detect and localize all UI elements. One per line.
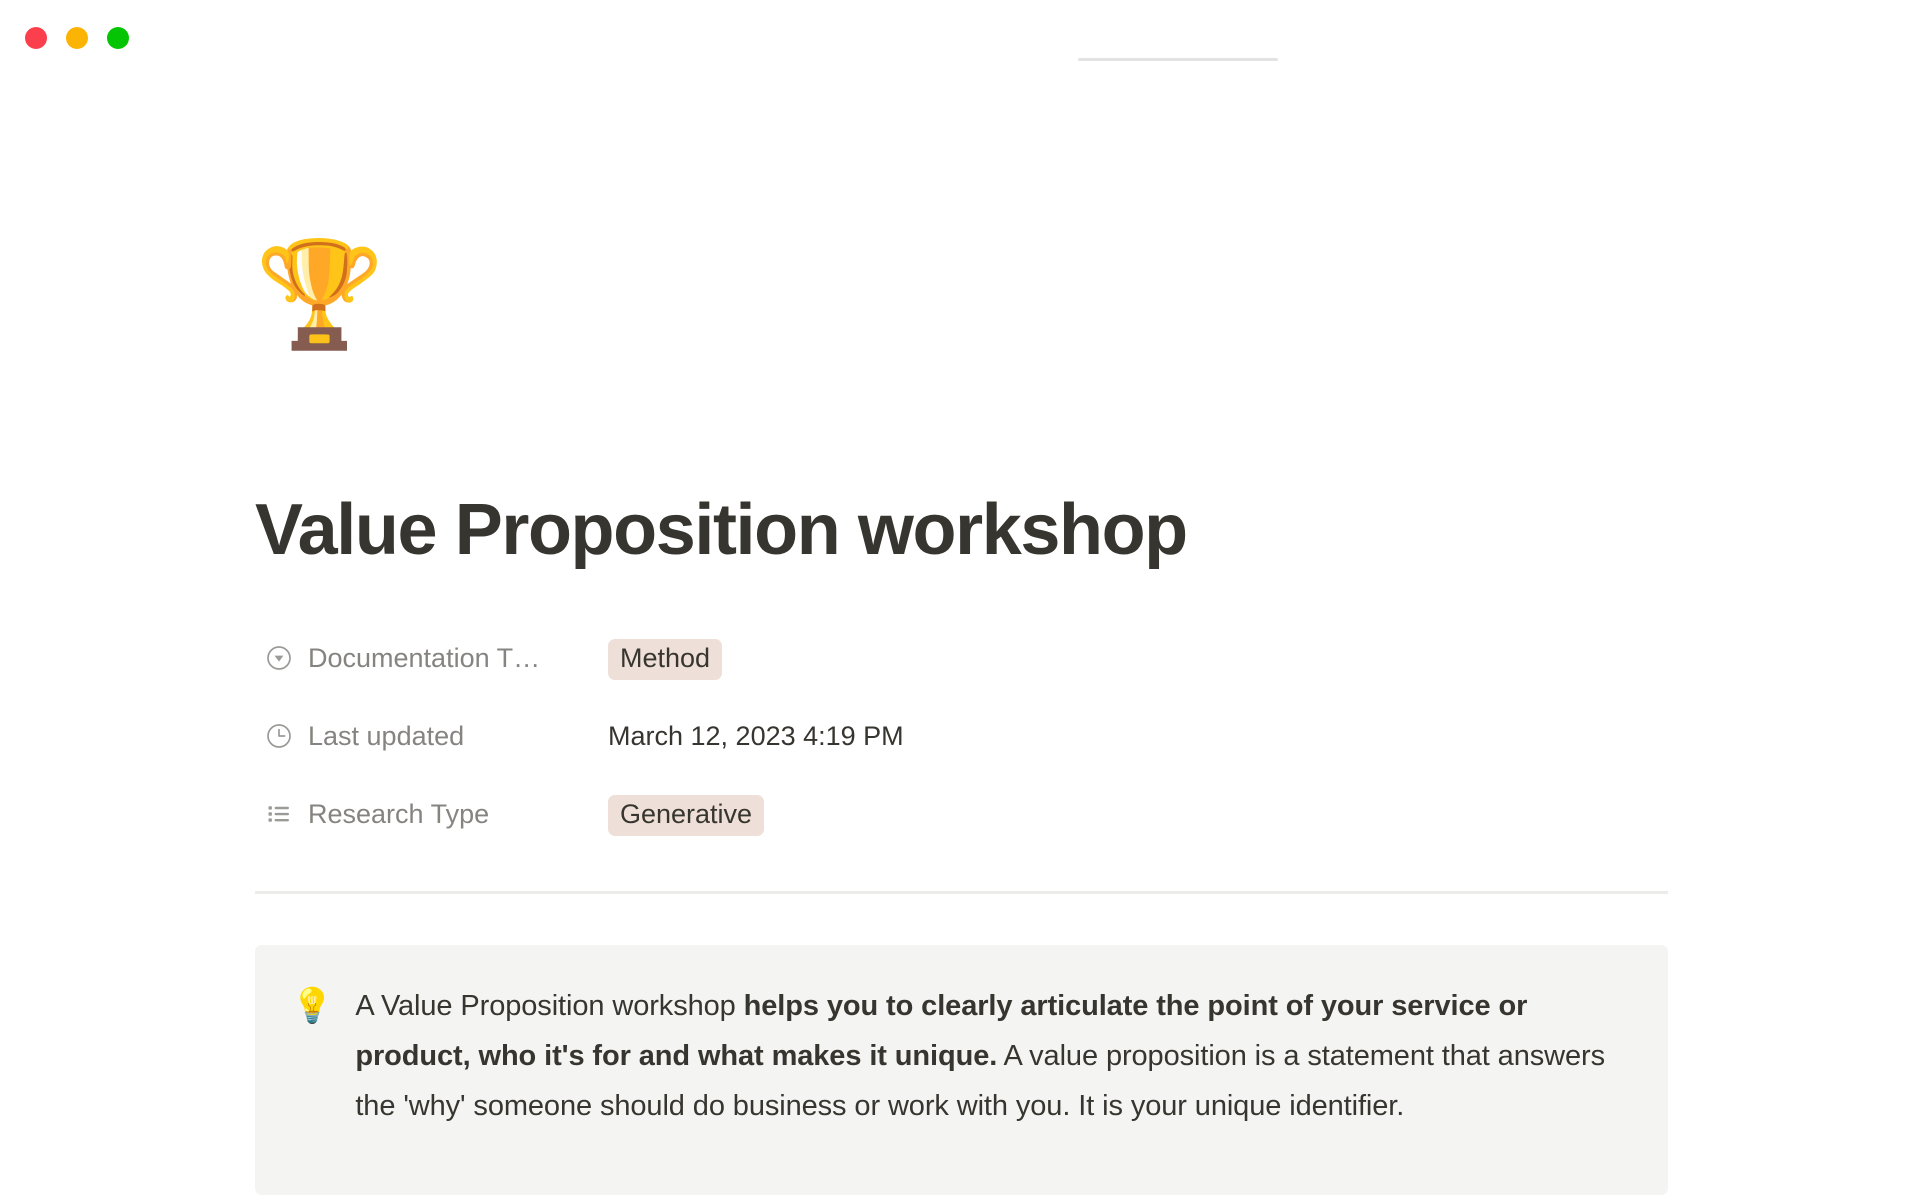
property-label-last-updated: Last updated bbox=[308, 716, 608, 756]
property-label-research-type: Research Type bbox=[308, 794, 608, 834]
property-row-documentation-type[interactable]: Documentation T… Method bbox=[255, 638, 1668, 716]
property-value-documentation-type[interactable]: Method bbox=[608, 638, 722, 680]
page-properties: Documentation T… Method Last updated Mar… bbox=[255, 638, 1668, 872]
lightbulb-emoji: 💡 bbox=[291, 981, 333, 1031]
status-badge[interactable]: Generative bbox=[608, 795, 764, 836]
page-content: 🏆 Value Proposition workshop Documentati… bbox=[0, 0, 1920, 1200]
page-title[interactable]: Value Proposition workshop bbox=[255, 487, 1655, 573]
callout-text: A Value Proposition workshop helps you t… bbox=[355, 981, 1622, 1131]
property-row-last-updated[interactable]: Last updated March 12, 2023 4:19 PM bbox=[255, 716, 1668, 794]
multi-select-icon bbox=[266, 801, 292, 827]
property-row-research-type[interactable]: Research Type Generative bbox=[255, 794, 1668, 872]
status-badge[interactable]: Method bbox=[608, 639, 722, 680]
clock-icon bbox=[266, 723, 292, 749]
section-divider bbox=[255, 891, 1668, 894]
trophy-emoji[interactable]: 🏆 bbox=[255, 242, 385, 346]
property-value-last-updated: March 12, 2023 4:19 PM bbox=[608, 716, 904, 756]
property-value-research-type[interactable]: Generative bbox=[608, 794, 764, 836]
property-label-documentation-type: Documentation T… bbox=[308, 638, 608, 678]
select-icon bbox=[266, 645, 292, 671]
callout-text-lead: A Value Proposition workshop bbox=[355, 990, 743, 1022]
callout-block[interactable]: 💡 A Value Proposition workshop helps you… bbox=[255, 945, 1668, 1195]
